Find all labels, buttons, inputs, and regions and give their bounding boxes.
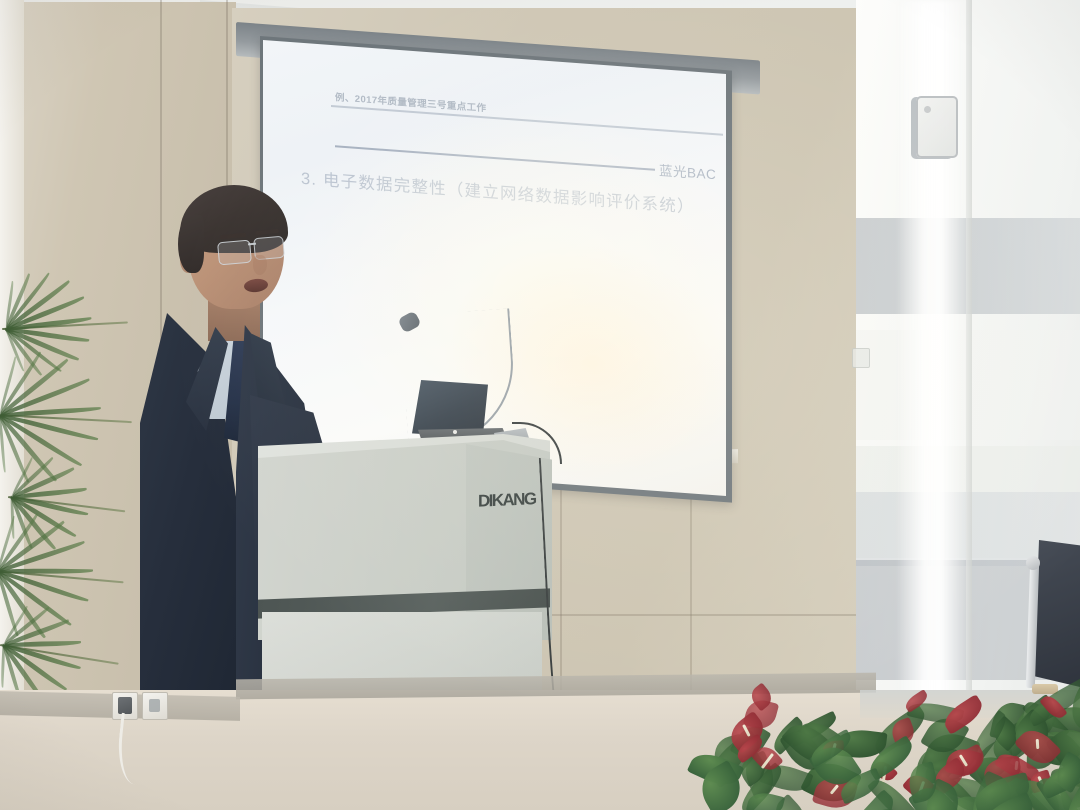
potted-palm-plant xyxy=(0,292,162,712)
pillar-edge xyxy=(966,0,972,706)
outlet-socket-face xyxy=(149,699,160,712)
plugged-adapter xyxy=(118,697,132,714)
conference-chair-back[interactable] xyxy=(1034,540,1080,688)
wall-switch-icon xyxy=(852,348,870,368)
wall-panel-seam-horizontal xyxy=(540,614,880,616)
anthurium-flower-arrangement xyxy=(690,668,1080,810)
laptop-hinge-marker xyxy=(453,430,457,434)
chair-adjustment-knob[interactable] xyxy=(1026,556,1040,570)
hair-sideburn xyxy=(178,215,204,273)
wall-clock-icon xyxy=(916,96,958,158)
glasses-lens-left xyxy=(217,240,252,266)
presentation-photo-scene: 例、2017年质量管理三号重点工作 蓝光BAC 3. 电子数据完整性（建立网络数… xyxy=(0,0,1080,810)
podium-logo-text: DIKANG xyxy=(478,489,535,511)
anthurium-spadix xyxy=(1035,738,1039,748)
